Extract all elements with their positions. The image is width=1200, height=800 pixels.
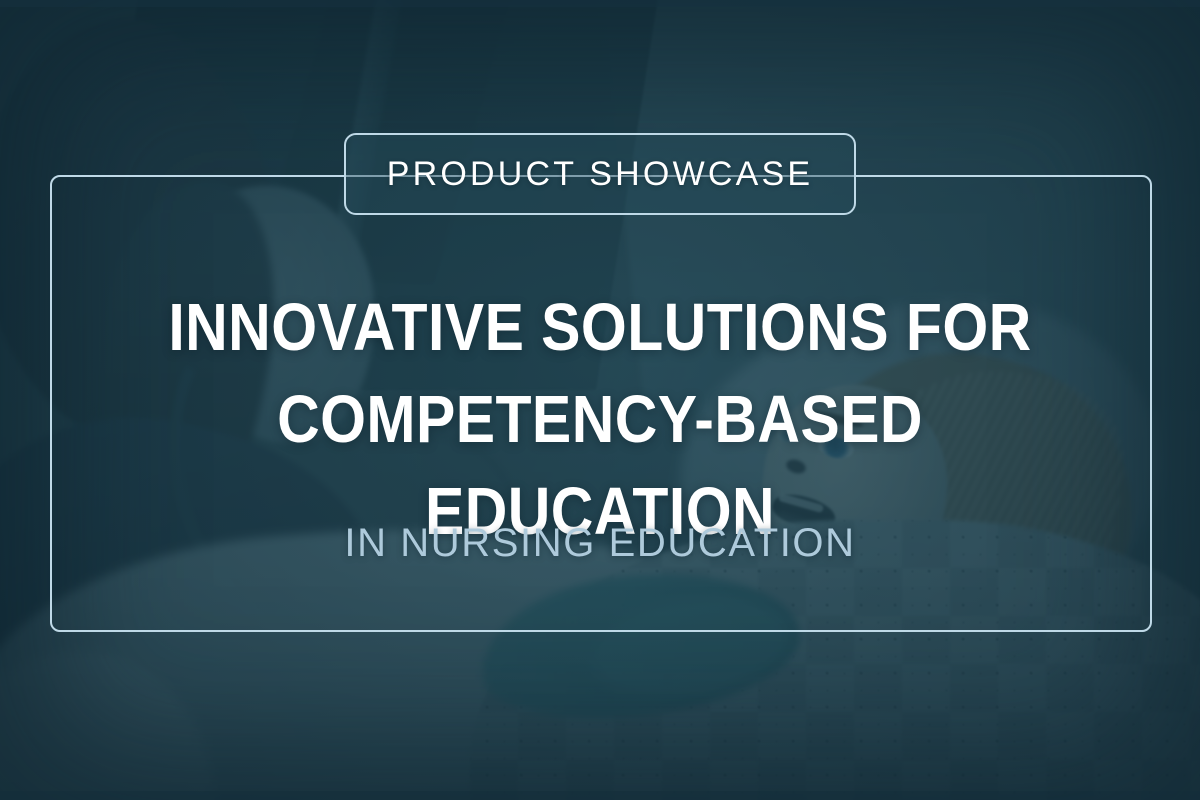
product-showcase-badge: PRODUCT SHOWCASE xyxy=(344,133,856,215)
page-subtitle: IN NURSING EDUCATION xyxy=(0,519,1200,567)
product-showcase-banner: PRODUCT SHOWCASE INNOVATIVE SOLUTIONS FO… xyxy=(0,0,1200,800)
headline-line-2: COMPETENCY-BASED xyxy=(72,374,1128,466)
headline-line-1: INNOVATIVE SOLUTIONS FOR xyxy=(72,282,1128,374)
page-title: INNOVATIVE SOLUTIONS FOR COMPETENCY-BASE… xyxy=(72,282,1128,558)
banner-content: PRODUCT SHOWCASE INNOVATIVE SOLUTIONS FO… xyxy=(0,0,1200,800)
badge-label: PRODUCT SHOWCASE xyxy=(387,157,814,191)
